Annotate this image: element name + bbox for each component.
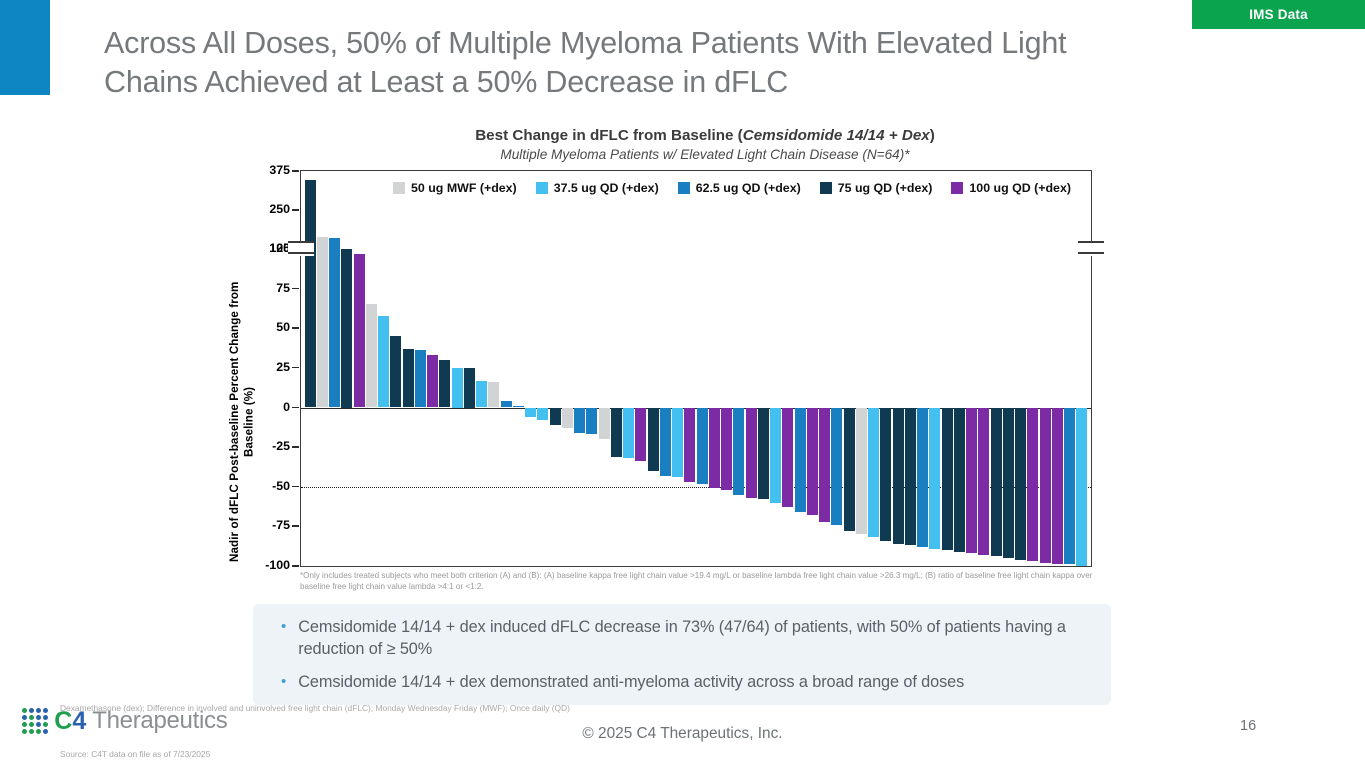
bar-column <box>414 171 426 566</box>
bar <box>795 408 806 513</box>
bar-column <box>782 171 794 566</box>
bar-column <box>868 171 880 566</box>
bar <box>684 408 695 482</box>
bar-column <box>831 171 843 566</box>
bar <box>599 408 610 440</box>
bar-column <box>1015 171 1027 566</box>
bar-column <box>757 171 769 566</box>
bar <box>341 249 352 408</box>
bar-column <box>598 171 610 566</box>
legend-label: 50 ug MWF (+dex) <box>411 181 517 195</box>
bar <box>942 408 953 551</box>
bar <box>991 408 1002 557</box>
bar <box>672 408 683 478</box>
plot-canvas: 50 ug MWF (+dex)37.5 ug QD (+dex)62.5 ug… <box>300 170 1092 567</box>
bar <box>978 408 989 555</box>
bar <box>574 408 585 433</box>
y-tick-label: 75 <box>276 281 290 295</box>
bar-column <box>659 171 671 566</box>
list-item-label: Cemsidomide 14/14 + dex induced dFLC dec… <box>298 617 1085 661</box>
page-title: Across All Doses, 50% of Multiple Myelom… <box>104 24 1179 102</box>
chart-legend: 50 ug MWF (+dex)37.5 ug QD (+dex)62.5 ug… <box>393 181 1071 195</box>
bar <box>635 408 646 462</box>
bar <box>954 408 965 552</box>
bar-column <box>892 171 904 566</box>
bar-column <box>525 171 537 566</box>
bar <box>868 408 879 538</box>
bar-column <box>696 171 708 566</box>
legend-item: 37.5 ug QD (+dex) <box>536 181 659 195</box>
legend-label: 100 ug QD (+dex) <box>969 181 1071 195</box>
bar-column <box>1076 171 1088 566</box>
bar-column <box>1039 171 1051 566</box>
bar-column <box>610 171 622 566</box>
bar-column <box>904 171 916 566</box>
bar <box>831 408 842 525</box>
waterfall-chart: Best Change in dFLC from Baseline (Cemsi… <box>230 126 1120 596</box>
copyright-note: © 2025 C4 Therapeutics, Inc. <box>0 725 1365 743</box>
bar-column <box>929 171 941 566</box>
bar <box>856 408 867 535</box>
bar <box>366 304 377 407</box>
bar-series <box>301 171 1091 566</box>
list-item-label: Cemsidomide 14/14 + dex demonstrated ant… <box>298 672 964 694</box>
legend-swatch-icon <box>678 182 690 194</box>
page-title-line2: Chains Achieved at Least a 50% Decrease … <box>104 63 1179 102</box>
legend-label: 75 ug QD (+dex) <box>838 181 933 195</box>
slide: IMS Data Across All Doses, 50% of Multip… <box>0 0 1365 768</box>
bar <box>660 408 671 476</box>
legend-item: 100 ug QD (+dex) <box>951 181 1071 195</box>
y-tick-label: -100 <box>265 558 290 572</box>
logo-dot <box>43 708 48 713</box>
source-note: Source: C4T data on file as of 7/23/2025 <box>60 749 210 759</box>
bar-column <box>549 171 561 566</box>
y-tick-label: 25 <box>276 360 290 374</box>
legend-item: 75 ug QD (+dex) <box>820 181 933 195</box>
bar-column <box>941 171 953 566</box>
bar-column <box>586 171 598 566</box>
bar <box>721 408 732 490</box>
bar <box>758 408 769 500</box>
bar <box>623 408 634 459</box>
y-tick-label: 50 <box>276 320 290 334</box>
y-tick-label: 375 <box>269 163 290 177</box>
list-item: • Cemsidomide 14/14 + dex demonstrated a… <box>253 670 1111 694</box>
bar <box>746 408 757 498</box>
axis-break-icon <box>1078 238 1104 260</box>
y-axis-label: Nadir of dFLC Post-baseline Percent Chan… <box>228 278 248 565</box>
bar-column <box>1027 171 1039 566</box>
bar <box>770 408 781 503</box>
status-badge: IMS Data <box>1192 0 1365 29</box>
bar <box>378 316 389 408</box>
bar-column <box>684 171 696 566</box>
bar-column <box>1002 171 1014 566</box>
bar <box>329 238 340 407</box>
bar <box>611 408 622 457</box>
bar-column <box>500 171 512 566</box>
y-tick-label: -75 <box>272 518 290 532</box>
page-number: 16 <box>1240 718 1256 734</box>
bar-column <box>476 171 488 566</box>
bar <box>317 237 328 408</box>
bar-column <box>843 171 855 566</box>
chart-subtitle: Multiple Myeloma Patients w/ Elevated Li… <box>290 147 1120 162</box>
bar-column <box>353 171 365 566</box>
bullet-icon: • <box>281 617 286 661</box>
bar <box>819 408 830 522</box>
bar <box>1027 408 1038 562</box>
bar <box>427 355 438 407</box>
chart-title-main: Best Change in dFLC from Baseline ( <box>475 127 743 144</box>
bar-column <box>439 171 451 566</box>
logo-dot <box>43 715 48 720</box>
legend-swatch-icon <box>951 182 963 194</box>
bar-column <box>733 171 745 566</box>
chart-title: Best Change in dFLC from Baseline (Cemsi… <box>290 126 1120 145</box>
status-badge-label: IMS Data <box>1249 7 1308 22</box>
bar <box>893 408 904 544</box>
bar <box>929 408 940 549</box>
bar <box>905 408 916 546</box>
bar <box>586 408 597 435</box>
bar-column <box>708 171 720 566</box>
bar <box>525 408 536 418</box>
logo-dot <box>36 708 41 713</box>
bar <box>415 350 426 407</box>
y-tick-label: 0 <box>283 400 290 414</box>
accent-block <box>0 0 50 95</box>
bar-column <box>574 171 586 566</box>
bar <box>917 408 928 547</box>
bar <box>880 408 891 541</box>
bar <box>1076 408 1087 567</box>
legend-item: 50 ug MWF (+dex) <box>393 181 517 195</box>
bar <box>807 408 818 516</box>
bar-column <box>1051 171 1063 566</box>
logo-dot <box>29 715 34 720</box>
bar-column <box>329 171 341 566</box>
bar-column <box>561 171 573 566</box>
bar <box>709 408 720 489</box>
bar-column <box>488 171 500 566</box>
bar <box>697 408 708 484</box>
bar <box>305 180 316 407</box>
bar-column <box>451 171 463 566</box>
y-tick-label: 100 <box>269 241 290 255</box>
bar <box>513 406 524 408</box>
bar <box>966 408 977 554</box>
bar <box>1052 408 1063 565</box>
plot-area: Nadir of dFLC Post-baseline Percent Chan… <box>230 170 1120 565</box>
legend-swatch-icon <box>820 182 832 194</box>
bar <box>452 368 463 408</box>
bar-column <box>402 171 414 566</box>
bar <box>782 408 793 508</box>
bar <box>844 408 855 532</box>
bar <box>648 408 659 471</box>
legend-item: 62.5 ug QD (+dex) <box>678 181 801 195</box>
bar <box>1015 408 1026 560</box>
bar-column <box>378 171 390 566</box>
bar <box>464 368 475 408</box>
legend-label: 37.5 ug QD (+dex) <box>554 181 659 195</box>
bar-column <box>635 171 647 566</box>
axis-break-icon <box>288 238 314 260</box>
bar-column <box>365 171 377 566</box>
page-title-line1: Across All Doses, 50% of Multiple Myelom… <box>104 24 1179 63</box>
bar-column <box>953 171 965 566</box>
bar-column <box>978 171 990 566</box>
bar <box>501 401 512 407</box>
bar <box>1003 408 1014 559</box>
bar-column <box>990 171 1002 566</box>
bar <box>1064 408 1075 565</box>
bar-column <box>537 171 549 566</box>
bar-column <box>647 171 659 566</box>
bar <box>550 408 561 425</box>
bar-column <box>672 171 684 566</box>
logo-dot <box>29 708 34 713</box>
bar-column <box>880 171 892 566</box>
bar-column <box>819 171 831 566</box>
bar <box>476 381 487 408</box>
y-axis-ticks: 3752501251007550250-25-50-75-100 <box>248 170 300 565</box>
bar <box>488 382 499 407</box>
bar-column <box>390 171 402 566</box>
bar-column <box>917 171 929 566</box>
logo-dot <box>22 715 27 720</box>
bar <box>354 254 365 408</box>
bar-column <box>794 171 806 566</box>
bar-column <box>1064 171 1076 566</box>
list-item: • Cemsidomide 14/14 + dex induced dFLC d… <box>253 615 1111 661</box>
legend-swatch-icon <box>393 182 405 194</box>
bar <box>733 408 744 495</box>
bar-column <box>806 171 818 566</box>
bar <box>537 408 548 421</box>
chart-title-emphasis: Cemsidomide 14/14 + Dex <box>743 127 930 144</box>
bar-column <box>855 171 867 566</box>
bar <box>562 408 573 429</box>
bar-column <box>721 171 733 566</box>
bar <box>1040 408 1051 563</box>
y-tick-label: -50 <box>272 479 290 493</box>
bar-column <box>316 171 328 566</box>
bar-column <box>341 171 353 566</box>
bar <box>390 336 401 407</box>
bullet-icon: • <box>281 672 286 694</box>
bar-column <box>770 171 782 566</box>
chart-title-tail: ) <box>930 127 935 144</box>
key-takeaways-box: • Cemsidomide 14/14 + dex induced dFLC d… <box>253 604 1111 705</box>
logo-dot <box>36 715 41 720</box>
bar <box>439 360 450 408</box>
bar <box>403 349 414 408</box>
legend-swatch-icon <box>536 182 548 194</box>
bar-column <box>966 171 978 566</box>
bar-column <box>745 171 757 566</box>
y-tick-label: 250 <box>269 202 290 216</box>
legend-label: 62.5 ug QD (+dex) <box>696 181 801 195</box>
bar-column <box>304 171 316 566</box>
bar-column <box>463 171 475 566</box>
chart-footnote: *Only includes treated subjects who meet… <box>300 570 1100 593</box>
y-tick-label: -25 <box>272 439 290 453</box>
bar-column <box>512 171 524 566</box>
bar-column <box>427 171 439 566</box>
bar-column <box>623 171 635 566</box>
logo-dot <box>22 708 27 713</box>
